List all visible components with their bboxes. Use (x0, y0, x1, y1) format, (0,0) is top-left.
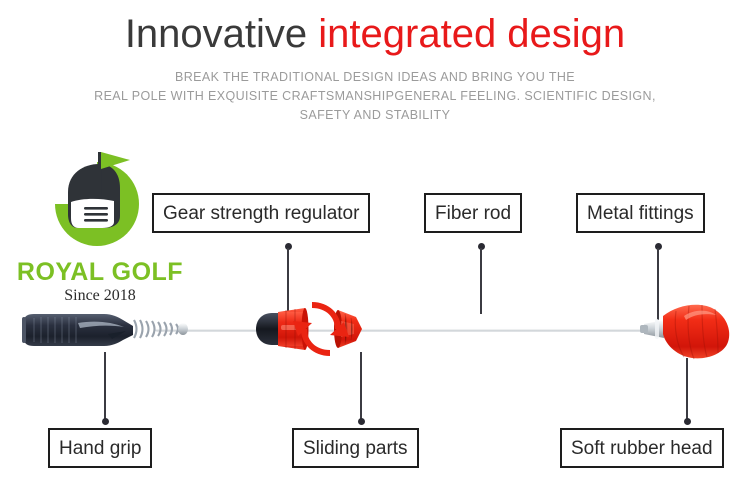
subtitle-line-3: SAFETY AND STABILITY (0, 106, 750, 125)
infographic-canvas: Innovative integrated design BREAK THE T… (0, 0, 750, 500)
label-metal-fittings-text: Metal fittings (587, 204, 694, 223)
golf-club-flag-logo-icon (38, 146, 156, 258)
leader-dot-sliding-parts (358, 418, 365, 425)
label-soft-rubber-head[interactable]: Soft rubber head (560, 428, 724, 468)
page-title: Innovative integrated design (0, 10, 750, 58)
label-soft-rubber-head-text: Soft rubber head (571, 439, 713, 458)
label-fiber-rod-text: Fiber rod (435, 204, 511, 223)
label-hand-grip[interactable]: Hand grip (48, 428, 152, 468)
golf-swing-trainer-illustration (0, 290, 750, 380)
subtitle-block: BREAK THE TRADITIONAL DESIGN IDEAS AND B… (0, 68, 750, 125)
brand-name: ROYAL GOLF (14, 258, 186, 286)
subtitle-line-2: REAL POLE WITH EXQUISITE CRAFTSMANSHIPGE… (0, 87, 750, 106)
title-segment-red: integrated design (318, 12, 625, 56)
leader-dot-soft-rubber-head (684, 418, 691, 425)
label-fiber-rod[interactable]: Fiber rod (424, 193, 522, 233)
label-gear-strength-regulator[interactable]: Gear strength regulator (152, 193, 370, 233)
subtitle-line-1: BREAK THE TRADITIONAL DESIGN IDEAS AND B… (0, 68, 750, 87)
label-sliding-parts[interactable]: Sliding parts (292, 428, 419, 468)
label-sliding-parts-text: Sliding parts (303, 439, 408, 458)
label-gear-strength-regulator-text: Gear strength regulator (163, 204, 359, 223)
label-metal-fittings[interactable]: Metal fittings (576, 193, 705, 233)
leader-dot-hand-grip (102, 418, 109, 425)
label-hand-grip-text: Hand grip (59, 439, 141, 458)
title-segment-dark: Innovative (125, 12, 318, 56)
